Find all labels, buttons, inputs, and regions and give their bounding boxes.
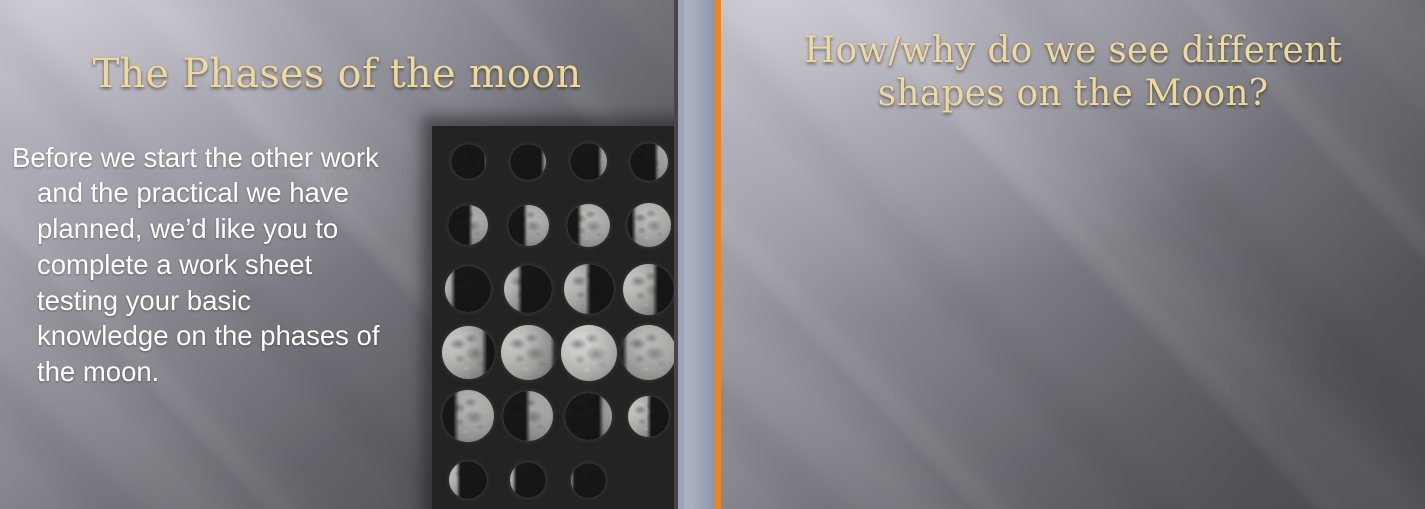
moon-terminator-shadow (567, 204, 610, 247)
moon-phase-grid (432, 126, 674, 509)
moon-phase-cell (498, 130, 558, 194)
slide-pair: The Phases of the moon Before we start t… (0, 0, 1425, 509)
moon-phase-disc (561, 325, 617, 381)
moon-phase-disc (501, 325, 556, 380)
moon-phase-cell (438, 385, 498, 449)
moon-phase-disc (442, 326, 495, 379)
moon-terminator-shadow (628, 396, 669, 437)
moon-terminator-shadow (445, 266, 491, 312)
moon-phase-disc (567, 204, 610, 247)
moon-phase-disc (628, 396, 669, 437)
moon-phase-disc (510, 144, 546, 180)
moon-phase-cell (498, 321, 558, 385)
moon-terminator-shadow (510, 462, 546, 498)
divider-band-highlight (684, 0, 702, 509)
moon-phase-disc (623, 264, 674, 315)
moon-phase-cell (619, 130, 674, 194)
moon-terminator-shadow (501, 325, 556, 380)
moon-phase-disc (451, 144, 486, 179)
moon-terminator-shadow (561, 325, 617, 381)
moon-phase-cell (559, 385, 619, 449)
moon-phase-disc (627, 203, 671, 247)
moon-phase-cell (559, 321, 619, 385)
moon-terminator-shadow (630, 143, 668, 181)
moon-terminator-shadow (442, 390, 494, 442)
page-title: How/why do we see different shapes on th… (721, 30, 1425, 115)
moon-phase-cell (619, 385, 674, 449)
moon-phase-disc (565, 393, 612, 440)
moon-phase-disc (571, 463, 606, 498)
page-title: The Phases of the moon (0, 51, 674, 98)
moon-terminator-shadow (504, 265, 552, 313)
moon-terminator-shadow (571, 463, 606, 498)
moon-phase-cell (559, 257, 619, 321)
moon-phase-cell (438, 448, 498, 509)
moon-phase-cell (559, 130, 619, 194)
moon-phase-cell (559, 448, 619, 509)
moon-phase-cell (498, 448, 558, 509)
moon-phase-cell (619, 194, 674, 258)
moon-terminator-shadow (508, 205, 549, 246)
moon-phase-cell (498, 385, 558, 449)
moon-phase-cell (498, 257, 558, 321)
moon-terminator-shadow (627, 203, 671, 247)
moon-phase-disc (503, 391, 553, 441)
moon-phase-disc (448, 205, 488, 245)
slide-phases-of-the-moon: The Phases of the moon Before we start t… (0, 0, 674, 509)
moon-phase-grid-photo (432, 126, 674, 509)
moon-phase-disc (445, 266, 491, 312)
moon-phase-disc (504, 265, 552, 313)
moon-terminator-shadow (451, 144, 486, 179)
moon-terminator-shadow (565, 393, 612, 440)
moon-phase-cell (498, 194, 558, 258)
moon-terminator-shadow (510, 144, 546, 180)
moon-phase-disc (442, 390, 494, 442)
moon-phase-cell (559, 194, 619, 258)
moon-terminator-shadow (503, 391, 553, 441)
moon-phase-cell (438, 321, 498, 385)
moon-terminator-shadow (449, 461, 487, 499)
moon-phase-disc (449, 461, 487, 499)
slide-body-text: Before we start the other work and the p… (12, 140, 384, 390)
moon-phase-cell (438, 194, 498, 258)
moon-phase-disc (630, 143, 668, 181)
moon-terminator-shadow (621, 325, 674, 380)
moon-phase-disc (621, 325, 674, 380)
moon-terminator-shadow (564, 264, 614, 314)
moon-phase-cell (619, 257, 674, 321)
moon-phase-cell (438, 257, 498, 321)
moon-terminator-shadow (442, 326, 495, 379)
moon-phase-disc (508, 205, 549, 246)
slide-different-shapes-on-the-moon: How/why do we see different shapes on th… (721, 0, 1425, 509)
moon-phase-disc (510, 462, 546, 498)
moon-terminator-shadow (570, 143, 607, 180)
moon-phase-cell (619, 321, 674, 385)
moon-terminator-shadow (448, 205, 488, 245)
moon-phase-disc (564, 264, 614, 314)
moon-terminator-shadow (623, 264, 674, 315)
moon-phase-disc (570, 143, 607, 180)
slide-divider (674, 0, 721, 509)
moon-phase-cell (438, 130, 498, 194)
